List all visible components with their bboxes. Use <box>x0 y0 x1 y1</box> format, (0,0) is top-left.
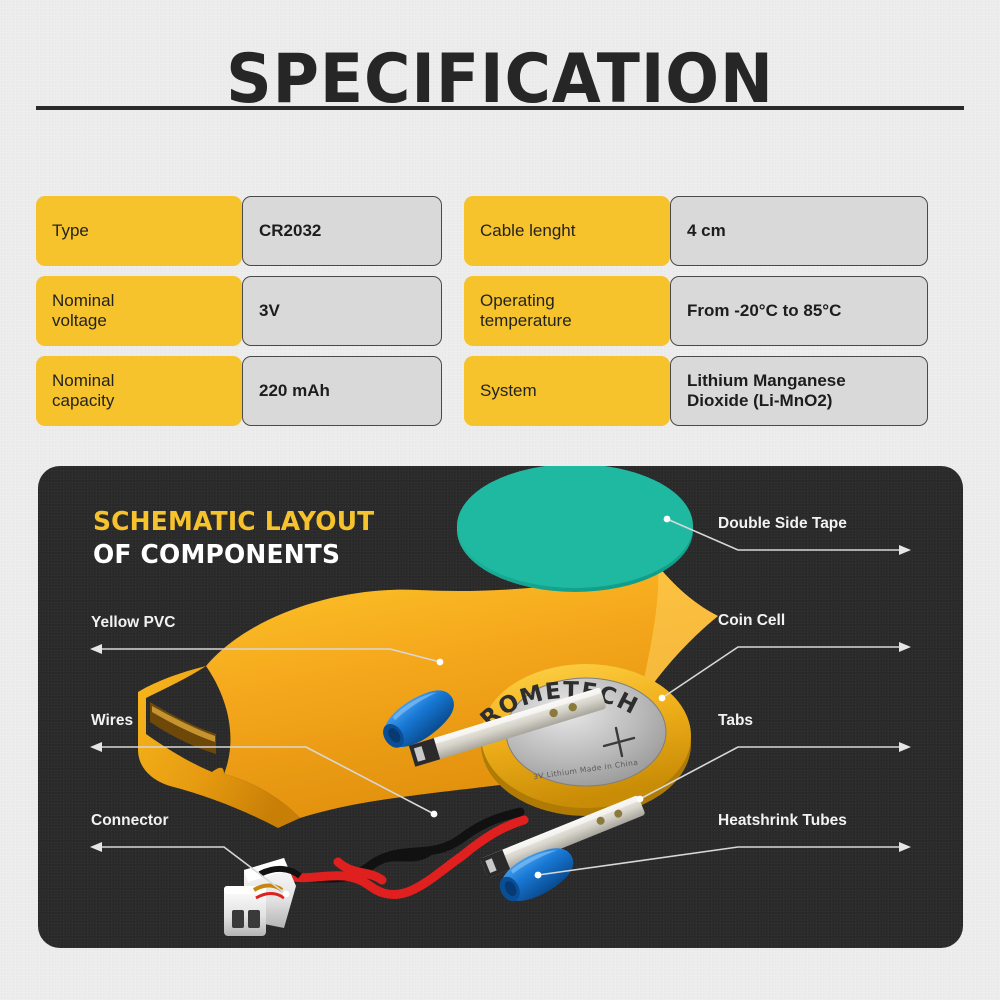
callout-label-tabs: Tabs <box>718 712 753 730</box>
spec-label-cable-lenght: Cable lenght <box>464 196 670 266</box>
callout-label-yellow-pvc: Yellow PVC <box>91 614 175 632</box>
spec-label-operating-temperature: Operating temperature <box>464 276 670 346</box>
column-gap <box>442 276 464 346</box>
spec-value-cable-lenght: 4 cm <box>670 196 928 266</box>
component-exploded-view: ROMETECH 3V Lithium Made in China <box>38 466 963 948</box>
column-gap <box>442 356 464 426</box>
header: SPECIFICATION <box>0 46 1000 114</box>
spec-value-operating-temperature: From -20°C to 85°C <box>670 276 928 346</box>
callout-label-heatshrink-tubes: Heatshrink Tubes <box>718 812 847 830</box>
leader-line-heatshrink-tubes <box>535 842 911 878</box>
callout-label-double-side-tape: Double Side Tape <box>718 515 847 533</box>
title-divider <box>36 106 964 110</box>
spec-label-nominal-capacity: Nominal capacity <box>36 356 242 426</box>
specification-table: Type CR2032 Cable lenght 4 cm Nominal vo… <box>36 196 964 426</box>
callout-label-coin-cell: Coin Cell <box>718 612 785 630</box>
double-side-tape-graphic <box>457 466 693 592</box>
column-gap <box>442 196 464 266</box>
spec-value-type: CR2032 <box>242 196 442 266</box>
spec-value-system: Lithium Manganese Dioxide (Li-MnO2) <box>670 356 928 426</box>
schematic-layout-panel: SCHEMATIC LAYOUT OF COMPONENTS <box>38 466 963 948</box>
spec-label-nominal-voltage: Nominal voltage <box>36 276 242 346</box>
spec-label-system: System <box>464 356 670 426</box>
spec-value-nominal-voltage: 3V <box>242 276 442 346</box>
callout-label-wires: Wires <box>91 712 133 730</box>
page-title: SPECIFICATION <box>35 46 965 114</box>
connector-graphic <box>224 858 300 936</box>
callout-label-connector: Connector <box>91 812 169 830</box>
leader-line-coin-cell <box>659 642 911 701</box>
spec-label-type: Type <box>36 196 242 266</box>
wires-graphic <box>274 812 524 895</box>
spec-value-nominal-capacity: 220 mAh <box>242 356 442 426</box>
